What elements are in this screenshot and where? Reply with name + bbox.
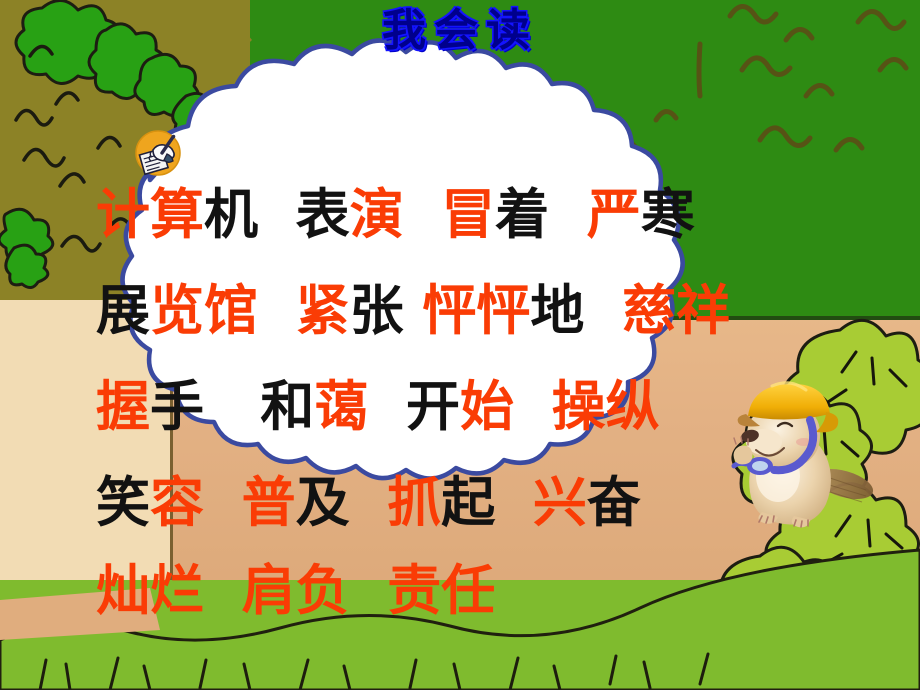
highlight-chars[interactable]: 冒 [441, 183, 495, 246]
highlight-chars[interactable]: 普 [242, 471, 296, 534]
plain-chars[interactable]: 表 [296, 183, 350, 246]
highlight-chars[interactable]: 慈祥 [622, 279, 730, 342]
highlight-chars[interactable]: 紧 [296, 279, 350, 342]
plain-chars[interactable]: 开 [406, 375, 460, 438]
plain-chars[interactable]: 地 [530, 279, 584, 342]
plain-chars[interactable]: 机 [204, 183, 258, 246]
word-gap [404, 183, 442, 246]
word-gap [350, 471, 388, 534]
plain-chars[interactable]: 起 [441, 471, 495, 534]
highlight-chars[interactable]: 肩负 [242, 559, 350, 622]
plain-chars[interactable]: 笑 [96, 471, 150, 534]
highlight-chars[interactable]: 览馆 [150, 279, 258, 342]
word-gap [350, 559, 388, 622]
highlight-chars[interactable]: 兴 [533, 471, 587, 534]
highlight-chars[interactable]: 容 [150, 471, 204, 534]
word-gap [514, 375, 552, 438]
plain-chars[interactable]: 奋 [587, 471, 641, 534]
highlight-chars[interactable]: 抓 [387, 471, 441, 534]
beaver-mascot-icon [726, 380, 896, 540]
highlight-chars[interactable]: 蔼 [314, 375, 368, 438]
highlight-chars[interactable]: 握 [96, 375, 150, 438]
word-gap [258, 183, 296, 246]
word-gap [495, 471, 533, 534]
highlight-chars[interactable]: 始 [460, 375, 514, 438]
word-gap [404, 279, 423, 342]
plain-chars[interactable]: 着 [495, 183, 549, 246]
highlight-chars[interactable]: 责任 [387, 559, 495, 622]
word-row-2[interactable]: 展览馆 紧张 怦怦地 慈祥 [96, 282, 886, 340]
word-gap [368, 375, 406, 438]
word-gap [549, 183, 587, 246]
slide-canvas: 我会读 计算机 表演 冒着 严寒 展览馆 紧张 怦怦地 慈祥 握手 和蔼 开始 … [0, 0, 920, 690]
word-list: 计算机 表演 冒着 严寒 展览馆 紧张 怦怦地 慈祥 握手 和蔼 开始 操纵 笑… [0, 0, 920, 690]
highlight-chars[interactable]: 怦怦 [422, 279, 530, 342]
word-gap [584, 279, 622, 342]
plain-chars[interactable]: 展 [96, 279, 150, 342]
plain-chars[interactable]: 和 [260, 375, 314, 438]
highlight-chars[interactable]: 计算 [96, 183, 204, 246]
highlight-chars[interactable]: 演 [350, 183, 404, 246]
word-gap [258, 279, 296, 342]
plain-chars[interactable]: 及 [296, 471, 350, 534]
word-gap [204, 559, 242, 622]
word-row-5[interactable]: 灿烂 肩负 责任 [96, 562, 886, 620]
word-gap [204, 375, 260, 438]
highlight-chars[interactable]: 严 [587, 183, 641, 246]
highlight-chars[interactable]: 操纵 [552, 375, 660, 438]
plain-chars[interactable]: 寒 [641, 183, 695, 246]
word-row-1[interactable]: 计算机 表演 冒着 严寒 [96, 186, 886, 244]
highlight-chars[interactable]: 灿烂 [96, 559, 204, 622]
word-gap [204, 471, 242, 534]
plain-chars[interactable]: 手 [150, 375, 204, 438]
plain-chars[interactable]: 张 [350, 279, 404, 342]
